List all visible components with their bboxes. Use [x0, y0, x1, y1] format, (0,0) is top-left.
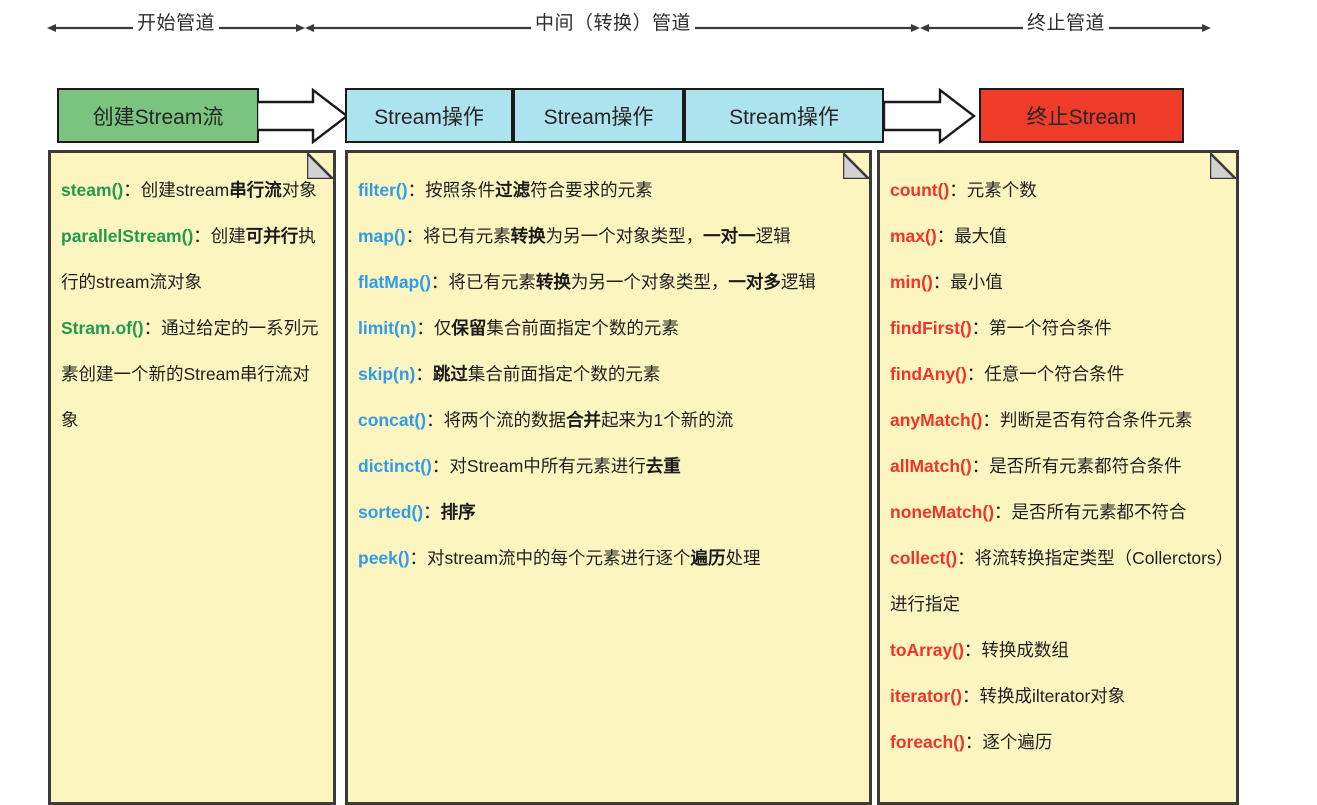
- method-desc-emphasis: 转换: [511, 226, 546, 246]
- stream-operation-box-1[interactable]: Stream操作: [345, 88, 513, 143]
- method-entry: skip(n)：跳过集合前面指定个数的元素: [358, 351, 859, 397]
- intermediate-methods-list: filter()：按照条件过滤符合要求的元素map()：将已有元素转换为另一个对…: [348, 153, 869, 591]
- method-desc: 最小值: [950, 272, 1003, 292]
- method-separator: ：: [432, 456, 450, 476]
- method-separator: ：: [423, 502, 441, 522]
- method-desc-emphasis: 一对多: [728, 272, 781, 292]
- method-entry: parallelStream()：创建可并行执行的stream流对象: [61, 213, 323, 305]
- stream-operation-label-3: Stream操作: [729, 101, 839, 131]
- ruler-label-terminal: 终止管道: [1023, 12, 1109, 36]
- method-name: allMatch(): [890, 456, 972, 476]
- method-desc-emphasis: 串行流: [229, 180, 282, 200]
- method-name: count(): [890, 180, 949, 200]
- method-desc-emphasis: 过滤: [495, 180, 530, 200]
- method-entry: count()：元素个数: [890, 167, 1226, 213]
- method-entry: concat()：将两个流的数据合并起来为1个新的流: [358, 397, 859, 443]
- method-name: skip(n): [358, 364, 415, 384]
- method-separator: ：: [144, 318, 162, 338]
- method-separator: ：: [982, 410, 1000, 430]
- method-entry: peek()：对stream流中的每个元素进行逐个遍历处理: [358, 535, 859, 581]
- stream-operation-label-1: Stream操作: [374, 101, 484, 131]
- method-separator: ：: [431, 272, 449, 292]
- method-name: Stram.of(): [61, 318, 144, 338]
- method-separator: ：: [410, 548, 428, 568]
- method-desc: 对象: [282, 180, 317, 200]
- method-name: sorted(): [358, 502, 423, 522]
- method-desc: 对Stream中所有元素进行: [449, 456, 645, 476]
- method-desc: 转换成数组: [981, 640, 1069, 660]
- folded-corner-icon: [1210, 153, 1236, 179]
- method-desc-emphasis: 合并: [566, 410, 601, 430]
- method-desc: 第一个符合条件: [989, 318, 1112, 338]
- method-desc: 转换成ilterator对象: [979, 686, 1125, 706]
- method-desc-emphasis: 保留: [451, 318, 486, 338]
- method-desc: 符合要求的元素: [530, 180, 653, 200]
- terminate-stream-label: 终止Stream: [1027, 101, 1137, 131]
- method-desc: 是否所有元素都不符合: [1012, 502, 1187, 522]
- method-entry: anyMatch()：判断是否有符合条件元素: [890, 397, 1226, 443]
- method-separator: ：: [965, 732, 983, 752]
- method-desc: 创建: [211, 226, 246, 246]
- method-desc: 为另一个对象类型，: [546, 226, 704, 246]
- method-entry: dictinct()：对Stream中所有元素进行去重: [358, 443, 859, 489]
- stream-operation-box-2[interactable]: Stream操作: [513, 88, 684, 143]
- terminal-methods-list: count()：元素个数max()：最大值min()：最小值findFirst(…: [880, 153, 1236, 775]
- method-separator: ：: [972, 456, 990, 476]
- flow-arrow-intermediate-to-terminal: [884, 86, 976, 146]
- method-entry: max()：最大值: [890, 213, 1226, 259]
- folded-corner-icon: [843, 153, 869, 179]
- method-desc-emphasis: 遍历: [691, 548, 726, 568]
- method-desc: 为另一个对象类型，: [571, 272, 729, 292]
- method-name: parallelStream(): [61, 226, 193, 246]
- method-entry: steam()：创建stream串行流对象: [61, 167, 323, 213]
- method-name: steam(): [61, 180, 123, 200]
- terminate-stream-box[interactable]: 终止Stream: [979, 88, 1184, 143]
- method-separator: ：: [408, 180, 426, 200]
- method-separator: ：: [933, 272, 951, 292]
- method-separator: ：: [964, 640, 982, 660]
- method-desc: 创建stream: [141, 180, 229, 200]
- method-desc: 将两个流的数据: [444, 410, 567, 430]
- method-name: toArray(): [890, 640, 964, 660]
- method-name: map(): [358, 226, 406, 246]
- method-name: foreach(): [890, 732, 965, 752]
- method-separator: ：: [949, 180, 967, 200]
- method-entry: min()：最小值: [890, 259, 1226, 305]
- method-entry: foreach()：逐个遍历: [890, 719, 1226, 765]
- method-desc: 集合前面指定个数的元素: [468, 364, 661, 384]
- method-entry: collect()：将流转换指定类型（Collerctors）进行指定: [890, 535, 1226, 627]
- method-entry: flatMap()：将已有元素转换为另一个对象类型，一对多逻辑: [358, 259, 859, 305]
- method-entry: allMatch()：是否所有元素都符合条件: [890, 443, 1226, 489]
- method-desc: 逻辑: [756, 226, 791, 246]
- stream-operation-label-2: Stream操作: [544, 101, 654, 131]
- method-desc: 将已有元素: [448, 272, 536, 292]
- method-desc: 逻辑: [781, 272, 816, 292]
- flow-arrow-create-to-intermediate: [257, 86, 349, 146]
- method-name: findFirst(): [890, 318, 972, 338]
- method-desc: 将已有元素: [423, 226, 511, 246]
- method-separator: ：: [193, 226, 211, 246]
- method-name: iterator(): [890, 686, 962, 706]
- method-separator: ：: [415, 364, 433, 384]
- method-entry: toArray()：转换成数组: [890, 627, 1226, 673]
- method-desc: 是否所有元素都符合条件: [989, 456, 1182, 476]
- method-name: dictinct(): [358, 456, 432, 476]
- method-separator: ：: [972, 318, 990, 338]
- method-separator: ：: [416, 318, 434, 338]
- method-entry: iterator()：转换成ilterator对象: [890, 673, 1226, 719]
- method-separator: ：: [937, 226, 955, 246]
- method-desc: 按照条件: [425, 180, 495, 200]
- method-desc-emphasis: 可并行: [246, 226, 299, 246]
- method-name: max(): [890, 226, 937, 246]
- method-desc: 起来为1个新的流: [601, 410, 733, 430]
- terminal-methods-panel: count()：元素个数max()：最大值min()：最小值findFirst(…: [877, 150, 1239, 805]
- method-separator: ：: [962, 686, 980, 706]
- ruler-label-start: 开始管道: [133, 12, 219, 36]
- method-desc: 判断是否有符合条件元素: [1000, 410, 1193, 430]
- method-name: anyMatch(): [890, 410, 982, 430]
- method-separator: ：: [123, 180, 141, 200]
- method-desc: 对stream流中的每个元素进行逐个: [427, 548, 690, 568]
- method-desc: 逐个遍历: [982, 732, 1052, 752]
- method-entry: sorted()：排序: [358, 489, 859, 535]
- method-entry: findFirst()：第一个符合条件: [890, 305, 1226, 351]
- method-desc: 任意一个符合条件: [984, 364, 1124, 384]
- method-entry: findAny()：任意一个符合条件: [890, 351, 1226, 397]
- method-name: min(): [890, 272, 933, 292]
- method-separator: ：: [406, 226, 424, 246]
- method-desc-emphasis: 排序: [441, 502, 476, 522]
- method-desc-emphasis: 跳过: [433, 364, 468, 384]
- method-name: filter(): [358, 180, 408, 200]
- create-stream-box[interactable]: 创建Stream流: [57, 88, 259, 143]
- ruler-label-intermediate: 中间（转换）管道: [531, 12, 695, 36]
- create-stream-label: 创建Stream流: [93, 101, 224, 131]
- method-desc: 集合前面指定个数的元素: [486, 318, 679, 338]
- create-methods-panel: steam()：创建stream串行流对象parallelStream()：创建…: [48, 150, 336, 805]
- method-desc-emphasis: 转换: [536, 272, 571, 292]
- method-separator: ：: [967, 364, 985, 384]
- method-entry: map()：将已有元素转换为另一个对象类型，一对一逻辑: [358, 213, 859, 259]
- method-entry: filter()：按照条件过滤符合要求的元素: [358, 167, 859, 213]
- method-separator: ：: [957, 548, 975, 568]
- method-entry: Stram.of()：通过给定的一系列元素创建一个新的Stream串行流对象: [61, 305, 323, 443]
- method-name: flatMap(): [358, 272, 431, 292]
- stream-operation-box-3[interactable]: Stream操作: [684, 88, 884, 143]
- method-desc: 最大值: [954, 226, 1007, 246]
- create-methods-list: steam()：创建stream串行流对象parallelStream()：创建…: [51, 153, 333, 453]
- pipeline-phase-ruler: 开始管道 中间（转换）管道 终止管道: [0, 0, 1317, 60]
- method-entry: limit(n)：仅保留集合前面指定个数的元素: [358, 305, 859, 351]
- method-desc-emphasis: 去重: [646, 456, 681, 476]
- method-name: collect(): [890, 548, 957, 568]
- method-desc: 元素个数: [967, 180, 1037, 200]
- method-separator: ：: [426, 410, 444, 430]
- folded-corner-icon: [307, 153, 333, 179]
- method-desc: 处理: [726, 548, 761, 568]
- method-desc-emphasis: 一对一: [703, 226, 756, 246]
- method-entry: noneMatch()：是否所有元素都不符合: [890, 489, 1226, 535]
- method-name: concat(): [358, 410, 426, 430]
- method-separator: ：: [994, 502, 1012, 522]
- method-name: limit(n): [358, 318, 416, 338]
- intermediate-methods-panel: filter()：按照条件过滤符合要求的元素map()：将已有元素转换为另一个对…: [345, 150, 872, 805]
- method-name: peek(): [358, 548, 410, 568]
- method-name: noneMatch(): [890, 502, 994, 522]
- method-desc: 仅: [434, 318, 452, 338]
- method-name: findAny(): [890, 364, 967, 384]
